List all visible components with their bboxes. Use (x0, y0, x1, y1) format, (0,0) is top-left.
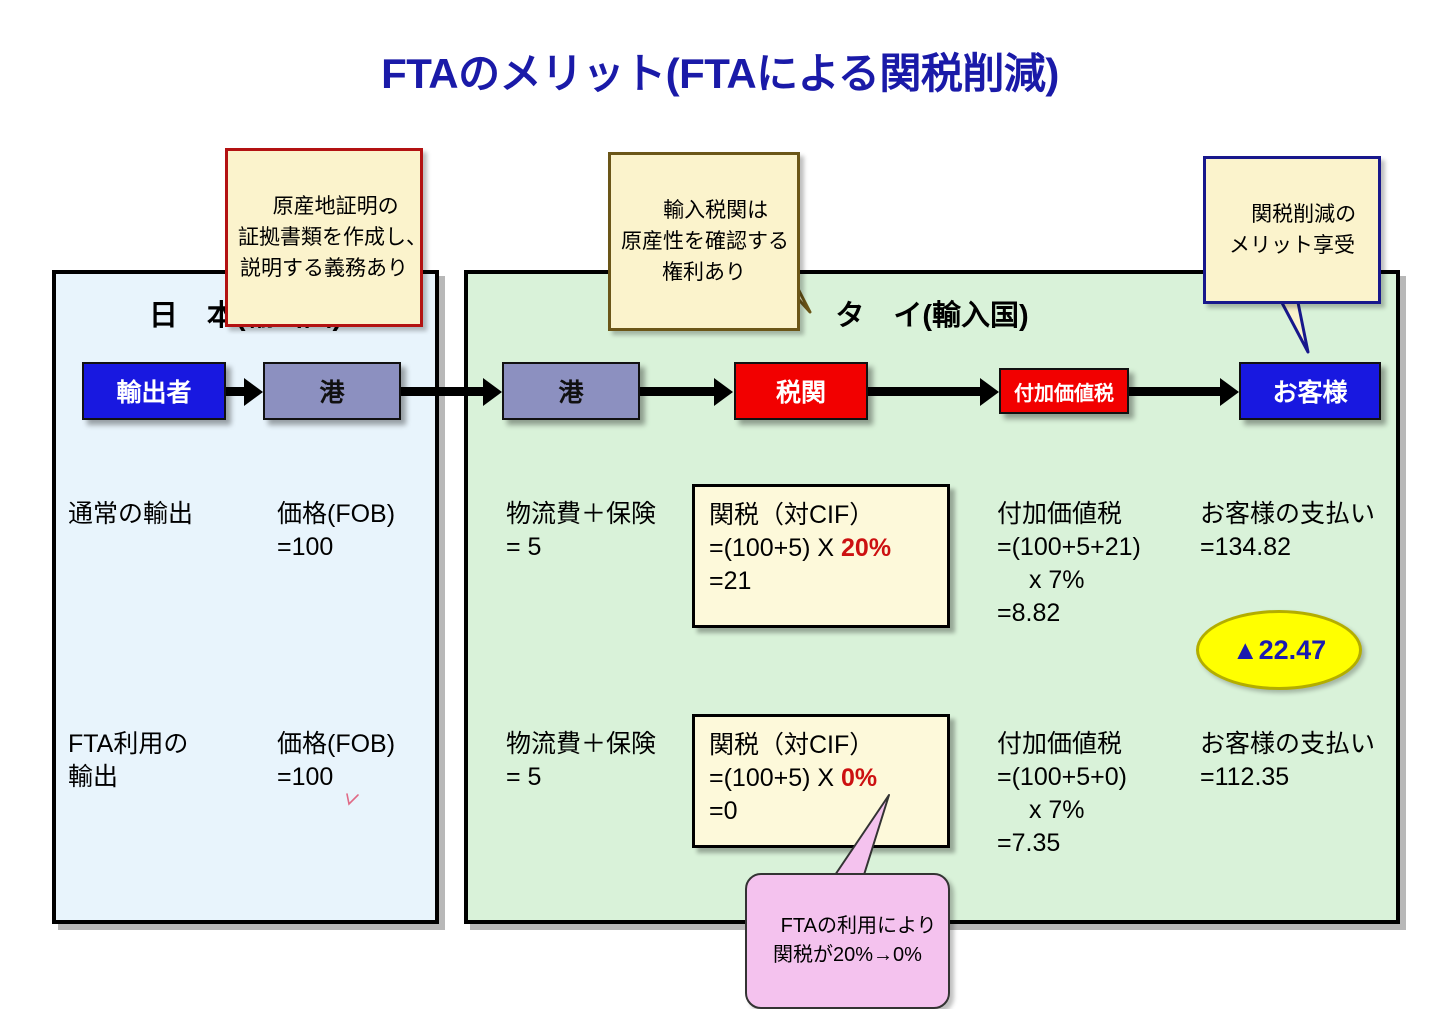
callout-tariff-reduction-benefit-text: 関税削減の メリット享受 (1229, 203, 1356, 257)
arrow-customs-to-vat (868, 387, 981, 396)
arrow-port-th-to-customs (640, 387, 715, 396)
row-normal-vat: 付加価値税 =(100+5+21) x 7% =8.82 (997, 498, 1141, 630)
row-normal-duty-formula: =(100+5) X (709, 534, 841, 562)
callout-certificate-of-origin-text: 原産地証明の 証拠書類を作成し、 説明する義務あり (238, 195, 427, 280)
page-title: FTAのメリット(FTAによる関税削減) (0, 40, 1440, 101)
row-normal-payment: お客様の支払い =134.82 (1200, 498, 1375, 564)
flow-box-exporter[interactable]: 輸出者 (82, 362, 226, 420)
flow-box-customer[interactable]: お客様 (1239, 362, 1381, 420)
flow-box-port-japan[interactable]: 港 (263, 362, 401, 420)
slide-canvas: FTAのメリット(FTAによる関税削減) 日 本(輸出国) タ イ(輸入国) 輸… (0, 0, 1440, 982)
row-normal-label: 通常の輸出 (68, 498, 193, 531)
row-normal-logistics: 物流費＋保険 = 5 (506, 498, 656, 564)
arrow-exporter-to-port-jp (226, 387, 245, 396)
row-normal-duty-result: =21 (709, 567, 751, 595)
flow-box-customs-label: 税関 (776, 373, 826, 409)
flow-box-port-thailand-label: 港 (558, 373, 583, 409)
flow-box-customs[interactable]: 税関 (734, 362, 868, 420)
row-normal-duty-box: 関税（対CIF） =(100+5) X 20% =21 (692, 484, 950, 628)
row-normal-fob: 価格(FOB) =100 (277, 498, 395, 564)
row-fta-duty-box: 関税（対CIF） =(100+5) X 0% =0 (692, 714, 950, 848)
row-normal-duty-rate: 20% (841, 534, 891, 562)
row-fta-payment: お客様の支払い =112.35 (1200, 728, 1375, 794)
callout-fta-tariff-change: FTAの利用により 関税が20%→0% (745, 873, 950, 1009)
row-fta-duty-formula: =(100+5) X (709, 764, 841, 792)
row-fta-label: FTA利用の 輸出 (68, 728, 188, 794)
flow-box-vat-label: 付加価値税 (1014, 377, 1114, 406)
row-fta-duty-title: 関税（対CIF） (709, 731, 874, 759)
callout-fta-tariff-change-text: FTAの利用により 関税が20%→0% (773, 915, 937, 966)
flow-box-port-thailand[interactable]: 港 (502, 362, 640, 420)
arrow-vat-to-customer (1129, 387, 1221, 396)
row-fta-duty-rate: 0% (841, 764, 877, 792)
flow-box-exporter-label: 輸出者 (116, 373, 191, 409)
row-normal-duty-title: 関税（対CIF） (709, 501, 874, 529)
callout-certificate-of-origin: 原産地証明の 証拠書類を作成し、 説明する義務あり (225, 148, 423, 327)
callout-tariff-reduction-benefit: 関税削減の メリット享受 (1203, 156, 1381, 304)
flow-box-port-japan-label: 港 (319, 373, 344, 409)
savings-badge-value: ▲22.47 (1232, 635, 1326, 666)
flow-box-customer-label: お客様 (1272, 373, 1347, 409)
row-fta-duty-result: =0 (709, 797, 738, 825)
row-fta-fob: 価格(FOB) =100 (277, 728, 395, 794)
flow-box-vat[interactable]: 付加価値税 (999, 368, 1129, 414)
row-fta-vat: 付加価値税 =(100+5+0) x 7% =7.35 (997, 728, 1127, 860)
callout-import-customs-rights-text: 輸入税関は 原産性を確認する 権利あり (621, 199, 789, 284)
savings-badge: ▲22.47 (1196, 610, 1362, 690)
arrow-port-jp-to-port-th (401, 387, 484, 396)
callout-import-customs-rights: 輸入税関は 原産性を確認する 権利あり (608, 152, 800, 331)
row-fta-logistics: 物流費＋保険 = 5 (506, 728, 656, 794)
pen-mark-icon (344, 792, 362, 810)
